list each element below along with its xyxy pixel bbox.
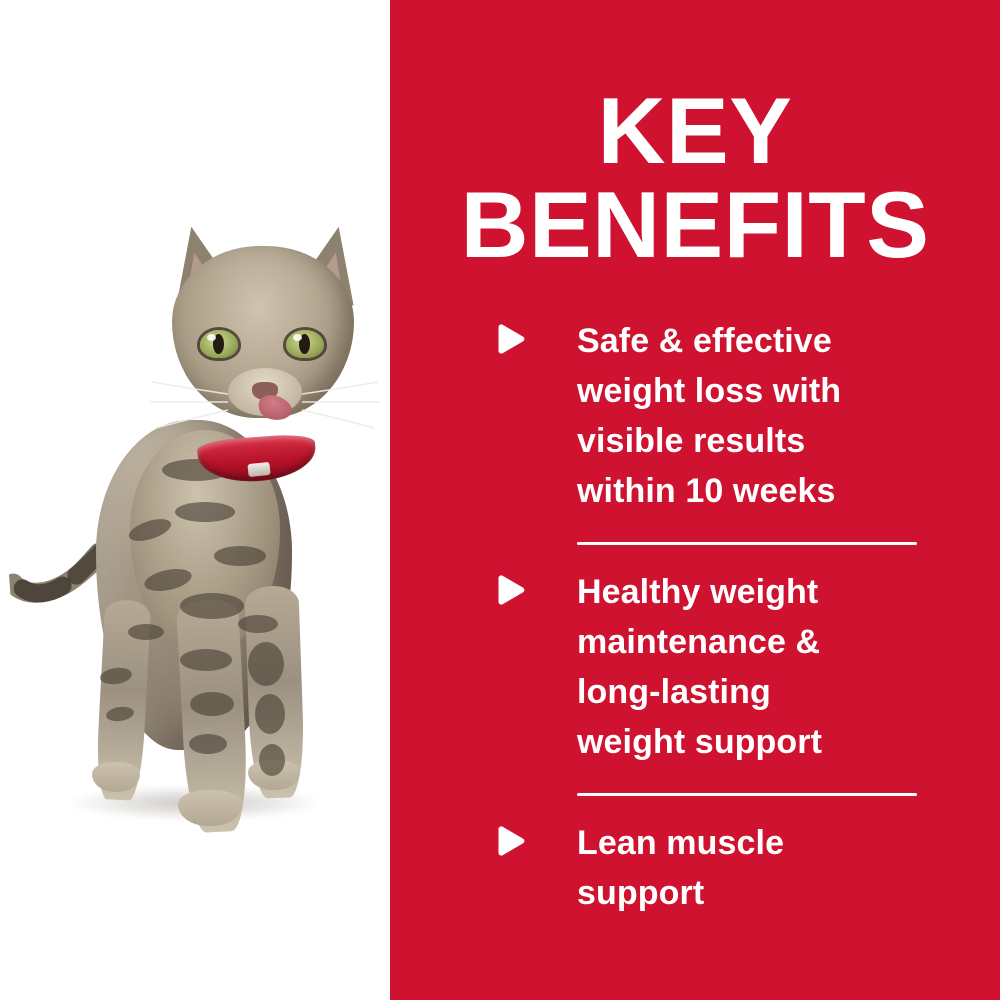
- key-benefits-panel: KEY BENEFITS Safe & effective weight los…: [0, 0, 1000, 1000]
- play-triangle-icon: [493, 826, 527, 856]
- benefits-list: Safe & effective weight loss with visibl…: [390, 316, 1000, 918]
- benefit-item-2: Healthy weight maintenance & long-lastin…: [390, 567, 1000, 767]
- benefit-item-1: Safe & effective weight loss with visibl…: [390, 316, 1000, 516]
- benefit-text-1: Safe & effective weight loss with visibl…: [577, 316, 907, 516]
- page-title: KEY BENEFITS: [390, 84, 1000, 272]
- cat-photo: [0, 0, 390, 1000]
- benefit-text-3: Lean muscle support: [577, 818, 907, 918]
- cat-eye-left: [200, 330, 238, 358]
- play-triangle-icon: [493, 324, 527, 354]
- play-triangle-icon: [493, 575, 527, 605]
- cat-photo-panel: [0, 0, 390, 1000]
- cat-eye-right: [286, 330, 324, 358]
- benefit-divider-1: [577, 542, 917, 545]
- cat-eye-glint-left: [207, 334, 216, 341]
- benefit-divider-2: [577, 793, 917, 796]
- benefits-panel: KEY BENEFITS Safe & effective weight los…: [390, 0, 1000, 1000]
- cat-collar-buckle: [247, 462, 270, 477]
- benefit-item-3: Lean muscle support: [390, 818, 1000, 918]
- cat-eye-glint-right: [293, 334, 302, 341]
- benefit-text-2: Healthy weight maintenance & long-lastin…: [577, 567, 907, 767]
